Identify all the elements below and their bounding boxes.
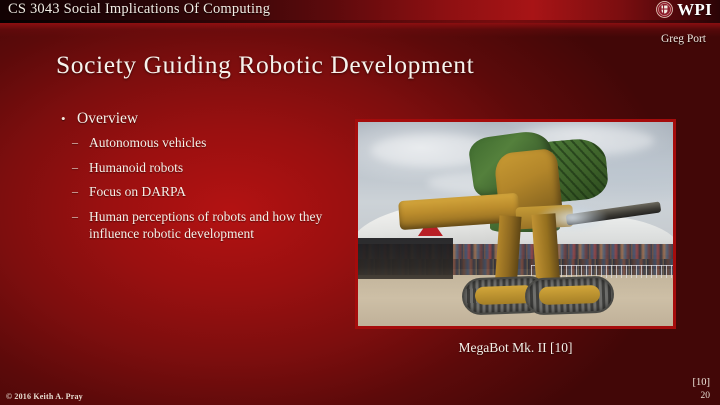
bullet-list: • Overview – Autonomous vehicles – Human… [56,108,346,250]
course-title: CS 3043 Social Implications Of Computing [8,1,270,18]
robot-track [524,276,614,316]
megabot-photo [358,122,673,326]
wpi-logo: WPI [656,1,712,18]
list-item-label: Focus on DARPA [89,184,186,199]
figure-caption: MegaBot Mk. II [10] [355,340,676,356]
page-title: Society Guiding Robotic Development [56,50,676,80]
bullet-marker: – [72,159,78,177]
copyright-notice: © 2016 Keith A. Pray [6,392,83,401]
robot-track-inner [539,285,601,305]
bullet-marker: • [61,108,66,129]
list-item: • Overview [56,108,346,129]
list-item-label: Overview [77,110,138,127]
list-item: – Humanoid robots [56,159,346,177]
reference-marker: [10] [693,377,711,388]
photo-stage [358,238,453,279]
list-item-label: Autonomous vehicles [89,135,206,150]
header-glow [0,23,720,37]
list-item: – Autonomous vehicles [56,134,346,152]
bullet-marker: – [72,134,78,152]
list-item: – Human perceptions of robots and how th… [56,208,346,243]
presenter-name: Greg Port [661,33,706,45]
bullet-marker: – [72,208,78,226]
wpi-seal-icon [656,1,673,18]
slide-canvas: CS 3043 Social Implications Of Computing… [0,0,720,405]
list-item-label: Human perceptions of robots and how they… [89,209,322,242]
figure-image [355,119,676,329]
wpi-logo-text: WPI [677,1,712,18]
slide-number: 20 [701,391,711,401]
list-item: – Focus on DARPA [56,183,346,201]
bullet-marker: – [72,183,78,201]
list-item-label: Humanoid robots [89,160,183,175]
